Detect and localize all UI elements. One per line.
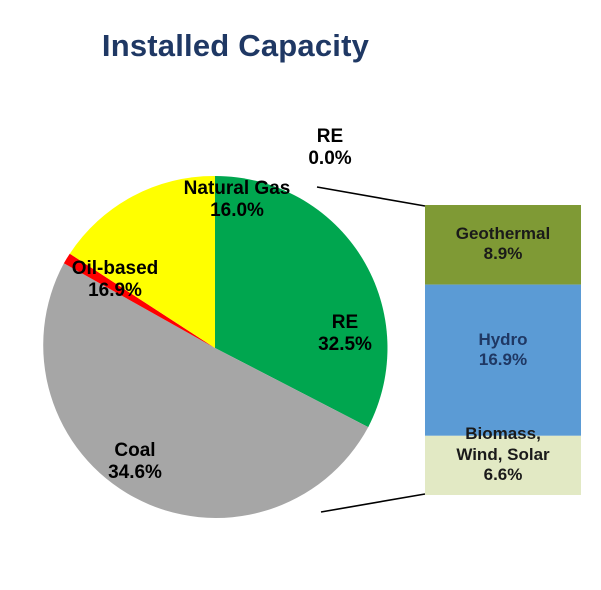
callout-connector-bottom	[321, 494, 425, 512]
bar-segment-biomass-wind-solar[interactable]	[425, 436, 581, 495]
bar-segment-geothermal[interactable]	[425, 205, 581, 285]
pie-chart-figure	[0, 0, 601, 590]
bar-segment-hydro[interactable]	[425, 285, 581, 436]
pie-slices	[43, 176, 387, 518]
callout-stacked-bar	[425, 205, 581, 495]
chart-canvas: Installed Capacity Natural Gas 16.0%	[0, 0, 601, 590]
callout-connector-top	[317, 187, 425, 206]
